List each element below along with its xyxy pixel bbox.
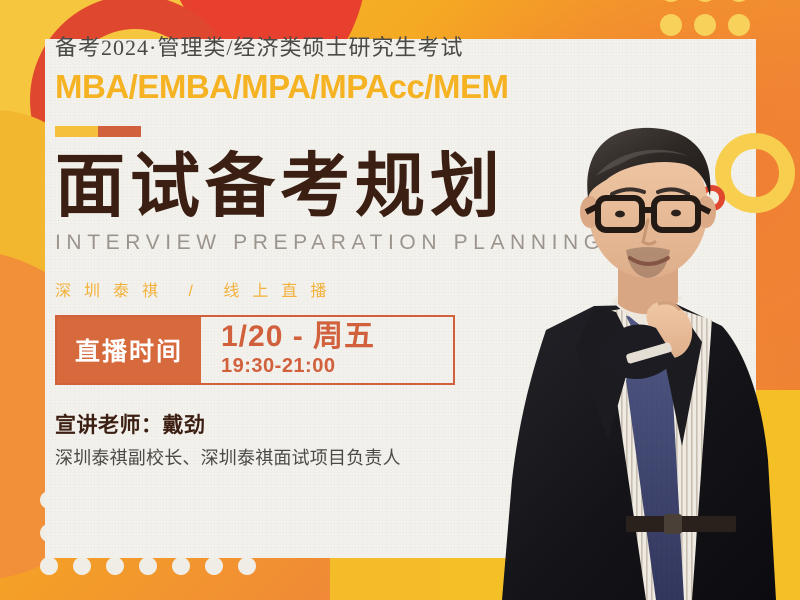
decorative-dot	[106, 557, 124, 575]
presenter-photo	[476, 80, 800, 600]
decorative-dot	[694, 14, 716, 36]
decorative-dot	[172, 557, 190, 575]
poster-canvas: 备考2024·管理类/经济类硕士研究生考试 MBA/EMBA/MPA/MPAcc…	[0, 0, 800, 600]
decorative-dot	[660, 0, 682, 2]
decorative-dot	[728, 0, 750, 2]
decorative-dot	[660, 14, 682, 36]
decorative-dot	[238, 557, 256, 575]
kicker-text: 备考2024·管理类/经济类硕士研究生考试	[55, 30, 615, 62]
decorative-dot	[139, 557, 157, 575]
accent-bar	[55, 126, 141, 137]
broadcast-hours: 19:30-21:00	[221, 355, 453, 378]
broadcast-date: 1/20 - 周五	[221, 321, 453, 353]
accent-bar-segment-yellow	[55, 126, 98, 137]
broadcast-time-values: 1/20 - 周五 19:30-21:00	[201, 317, 453, 383]
broadcast-time-box: 直播时间 1/20 - 周五 19:30-21:00	[55, 315, 455, 385]
accent-bar-segment-orange	[98, 126, 141, 137]
decorative-dot	[40, 557, 58, 575]
broadcast-time-label: 直播时间	[57, 317, 201, 383]
decorative-dot	[205, 557, 223, 575]
decorative-dot	[728, 14, 750, 36]
decorative-dot	[73, 557, 91, 575]
decorative-dot	[694, 0, 716, 2]
